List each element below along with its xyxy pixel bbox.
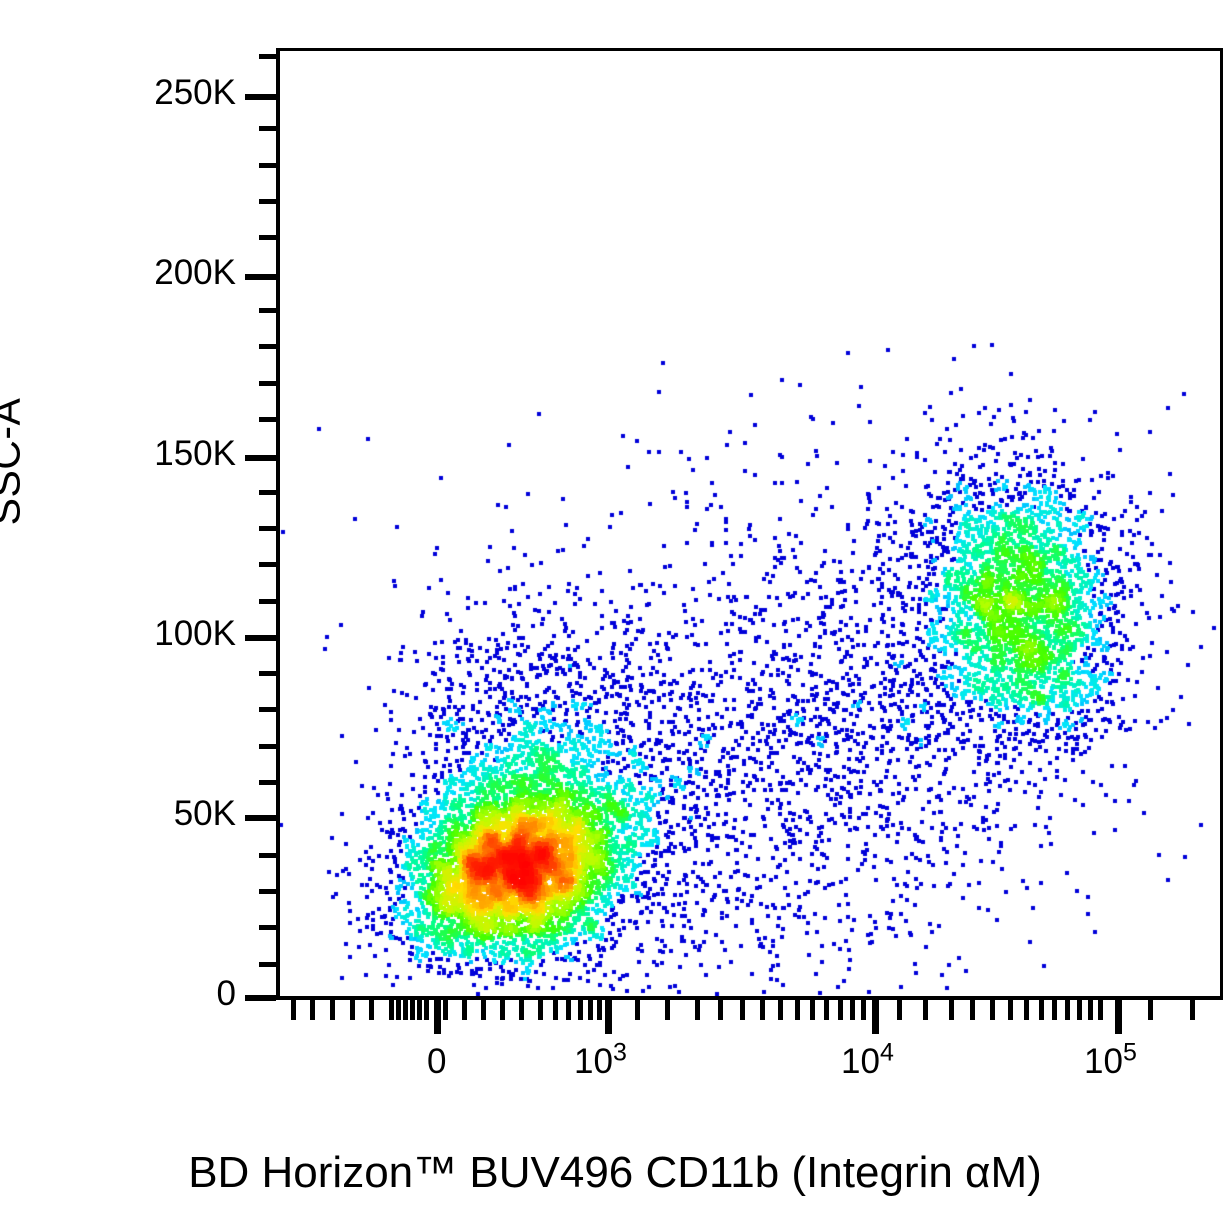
x-tick-minor [1190, 1000, 1195, 1020]
y-tick-minor [259, 163, 276, 168]
x-tick-major [872, 1000, 879, 1034]
x-tick-minor [838, 1000, 843, 1020]
x-tick-minor [369, 1000, 374, 1020]
y-tick-label: 150K [11, 434, 236, 474]
x-tick-mantissa: 10 [574, 1042, 613, 1081]
y-tick-minor [259, 562, 276, 567]
x-tick-minor [850, 1000, 855, 1020]
x-tick-major [1115, 1000, 1122, 1034]
x-tick-minor [1088, 1000, 1093, 1020]
y-tick-minor [259, 344, 276, 349]
x-tick-minor [1065, 1000, 1070, 1020]
x-tick-minor [665, 1000, 670, 1020]
y-tick-minor [259, 381, 276, 386]
x-tick-mantissa: 10 [841, 1042, 880, 1081]
x-tick-minor [330, 1000, 335, 1020]
y-tick-label: 0 [11, 974, 236, 1014]
y-tick-minor [259, 671, 276, 676]
y-tick-minor [259, 925, 276, 930]
y-tick-minor [259, 780, 276, 785]
x-tick-minor [695, 1000, 700, 1020]
x-tick-exponent: 4 [880, 1038, 894, 1066]
y-tick-minor [259, 308, 276, 313]
x-tick-minor [417, 1000, 422, 1020]
x-tick-minor [350, 1000, 355, 1020]
x-tick-minor [389, 1000, 394, 1020]
y-tick-label: 250K [11, 73, 236, 113]
x-tick-minor [810, 1000, 815, 1020]
x-tick-minor [597, 1000, 602, 1020]
x-tick-label: 105 [1084, 1042, 1137, 1082]
y-tick-major [245, 455, 276, 461]
x-tick-minor [588, 1000, 593, 1020]
x-tick-label: 104 [841, 1042, 894, 1082]
x-tick-minor [519, 1000, 524, 1020]
y-tick-major [245, 635, 276, 641]
plot-area[interactable] [276, 48, 1223, 1000]
y-tick-minor [259, 490, 276, 495]
x-tick-minor [500, 1000, 505, 1020]
y-tick-minor [259, 599, 276, 604]
x-tick-minor [635, 1000, 640, 1020]
x-tick-minor [403, 1000, 408, 1020]
y-tick-major [245, 995, 276, 1001]
y-tick-minor [259, 962, 276, 967]
y-tick-minor [259, 744, 276, 749]
x-tick-minor [990, 1000, 995, 1020]
x-tick-minor [970, 1000, 975, 1020]
x-tick-minor [462, 1000, 467, 1020]
x-tick-exponent: 5 [1123, 1038, 1137, 1066]
y-tick-minor [259, 126, 276, 131]
x-tick-minor [1052, 1000, 1057, 1020]
y-tick-minor [259, 853, 276, 858]
x-tick-exponent: 3 [613, 1038, 627, 1066]
x-tick-minor [424, 1000, 429, 1020]
x-tick-minor [1008, 1000, 1013, 1020]
x-tick-minor [1077, 1000, 1082, 1020]
x-tick-label: 103 [574, 1042, 627, 1082]
y-tick-minor [259, 707, 276, 712]
x-tick-label: 0 [427, 1042, 446, 1082]
y-tick-label: 50K [11, 794, 236, 834]
x-axis-title: BD Horizon™ BUV496 CD11b (Integrin αM) [0, 1148, 1230, 1198]
x-tick-minor [1024, 1000, 1029, 1020]
x-tick-minor [1148, 1000, 1153, 1020]
x-tick-minor [923, 1000, 928, 1020]
x-tick-major [434, 1000, 441, 1034]
x-tick-minor [443, 1000, 448, 1020]
x-tick-minor [1039, 1000, 1044, 1020]
y-tick-minor [259, 417, 276, 422]
x-tick-minor [760, 1000, 765, 1020]
y-tick-major [245, 274, 276, 280]
y-tick-label: 100K [11, 614, 236, 654]
x-tick-minor [553, 1000, 558, 1020]
y-tick-major [245, 815, 276, 821]
x-tick-minor [824, 1000, 829, 1020]
density-scatter-canvas[interactable] [280, 51, 1220, 996]
x-tick-minor [566, 1000, 571, 1020]
y-tick-minor [259, 889, 276, 894]
x-tick-minor [291, 1000, 296, 1020]
x-tick-minor [861, 1000, 866, 1020]
x-tick-minor [897, 1000, 902, 1020]
y-tick-minor [259, 54, 276, 59]
x-tick-minor [410, 1000, 415, 1020]
y-tick-label: 200K [11, 253, 236, 293]
x-tick-minor [538, 1000, 543, 1020]
y-tick-major [245, 94, 276, 100]
x-tick-minor [949, 1000, 954, 1020]
x-tick-minor [740, 1000, 745, 1020]
x-tick-minor [396, 1000, 401, 1020]
x-tick-minor [578, 1000, 583, 1020]
x-tick-mantissa: 10 [1084, 1042, 1123, 1081]
y-tick-minor [259, 526, 276, 531]
x-tick-major [605, 1000, 612, 1034]
x-tick-minor [310, 1000, 315, 1020]
x-tick-minor [718, 1000, 723, 1020]
y-tick-minor [259, 235, 276, 240]
x-tick-minor [1098, 1000, 1103, 1020]
y-tick-minor [259, 199, 276, 204]
flow-cytometry-figure: SSC-A 050K100K150K200K250K 0103104105 BD… [0, 0, 1230, 1230]
x-tick-minor [795, 1000, 800, 1020]
x-tick-minor [778, 1000, 783, 1020]
x-tick-minor [481, 1000, 486, 1020]
